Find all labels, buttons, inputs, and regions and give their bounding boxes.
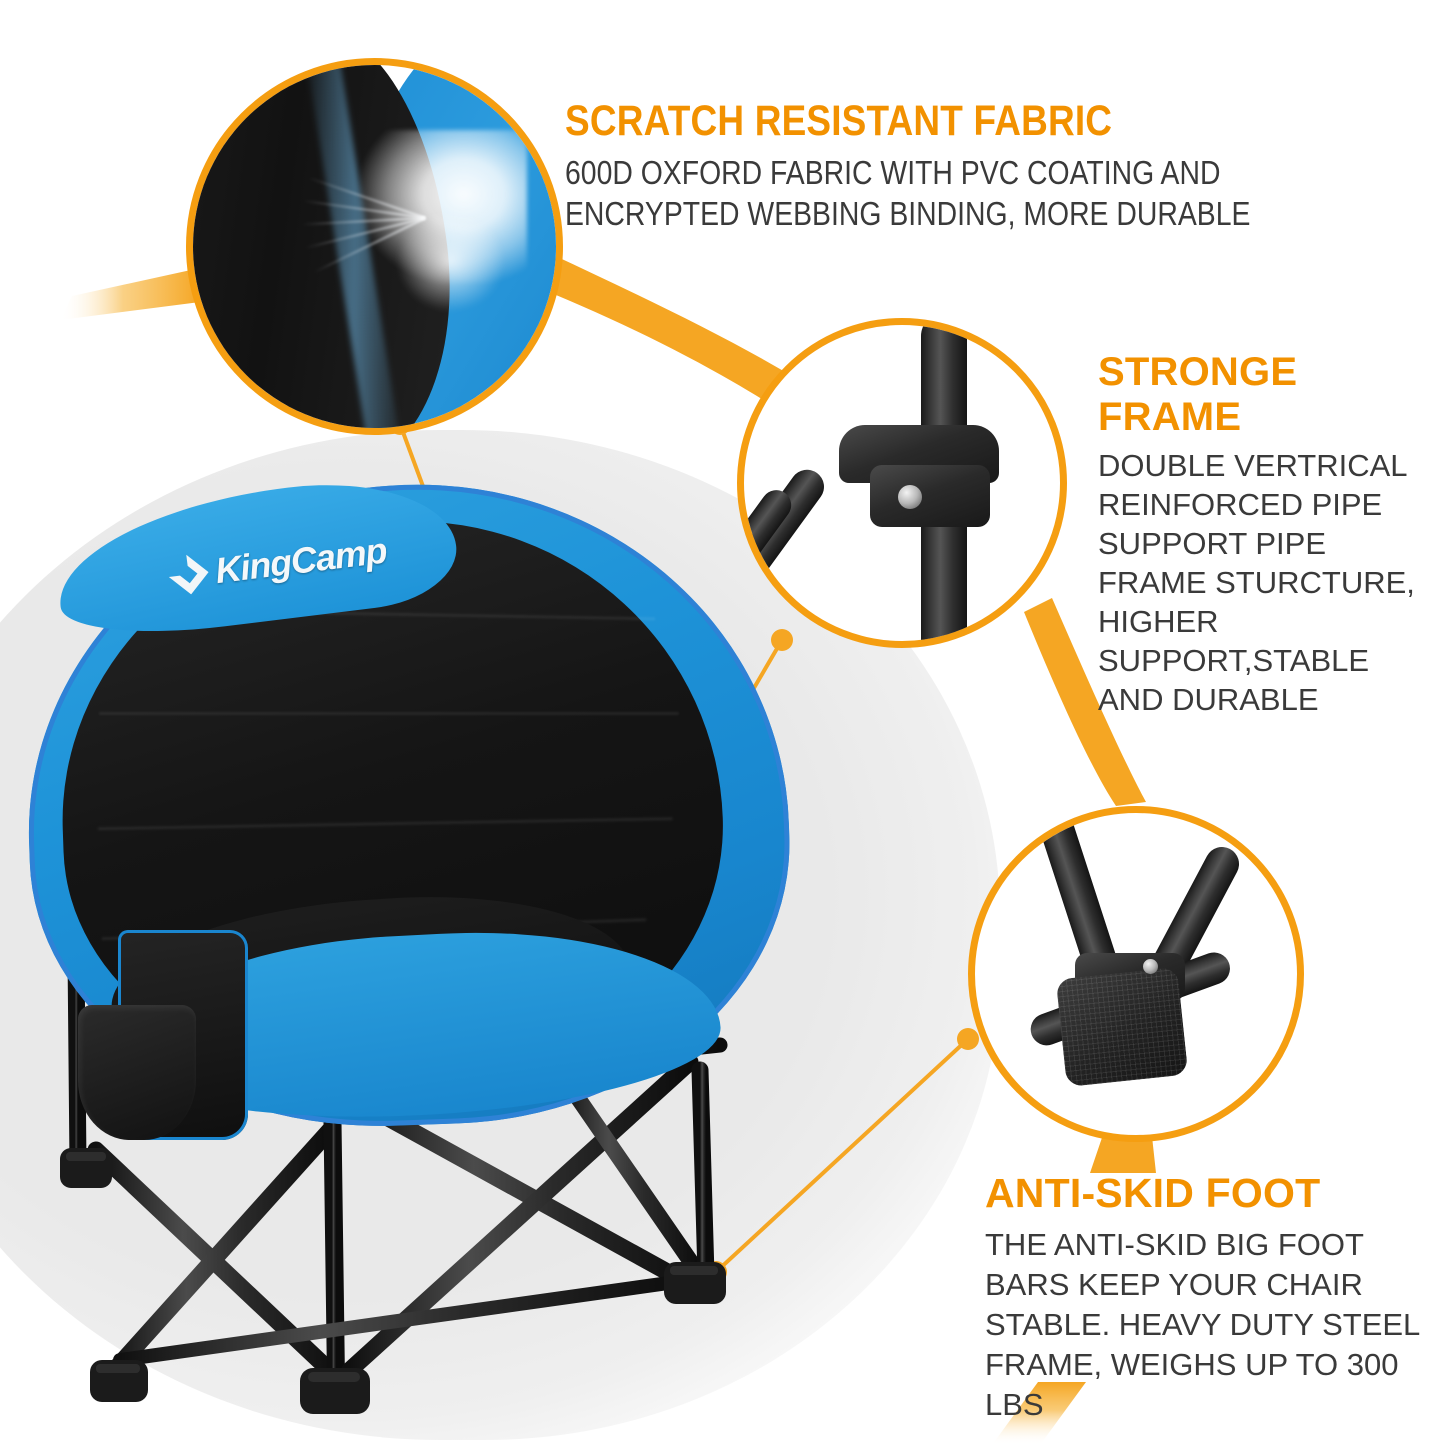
clamp-rivet-icon — [898, 485, 922, 509]
callout-text-fabric: SCRATCH RESISTANT FABRIC 600D OXFORD FAB… — [565, 96, 1415, 234]
infographic-canvas: KingCamp — [0, 0, 1445, 1445]
callout-heading-fabric: SCRATCH RESISTANT FABRIC — [565, 96, 1296, 146]
callout-heading-frame-line2: FRAME — [1098, 395, 1428, 440]
callout-heading-foot: ANTI-SKID FOOT — [985, 1170, 1435, 1217]
decor-band-left — [60, 268, 200, 320]
callout-text-foot: ANTI-SKID FOOT THE ANTI-SKID BIG FOOT BA… — [985, 1170, 1435, 1425]
callout-heading-frame-line1: STRONGE — [1098, 350, 1428, 395]
callout-body-fabric: 600D OXFORD FABRIC WITH PVC COATING AND … — [565, 152, 1296, 234]
anti-skid-foot-closeup-bubble — [968, 806, 1304, 1142]
anti-skid-foot-pad — [1056, 967, 1189, 1087]
frame-joint-closeup-bubble — [737, 318, 1067, 648]
callout-body-frame: DOUBLE VERTRICAL REINFORCED PIPE SUPPORT… — [1098, 446, 1428, 719]
callout-body-foot: THE ANTI-SKID BIG FOOT BARS KEEP YOUR CH… — [985, 1225, 1435, 1425]
chair-cup-holder-pocket — [78, 1005, 196, 1140]
foot-rivet-icon — [1143, 959, 1158, 974]
diamond-mountain-icon — [166, 552, 211, 597]
scratch-spray-highlight-secondary — [396, 210, 505, 312]
pipe-clamp-collar — [870, 465, 990, 527]
fabric-closeup-bubble — [186, 58, 563, 435]
callout-text-frame: STRONGE FRAME DOUBLE VERTRICAL REINFORCE… — [1098, 350, 1428, 719]
